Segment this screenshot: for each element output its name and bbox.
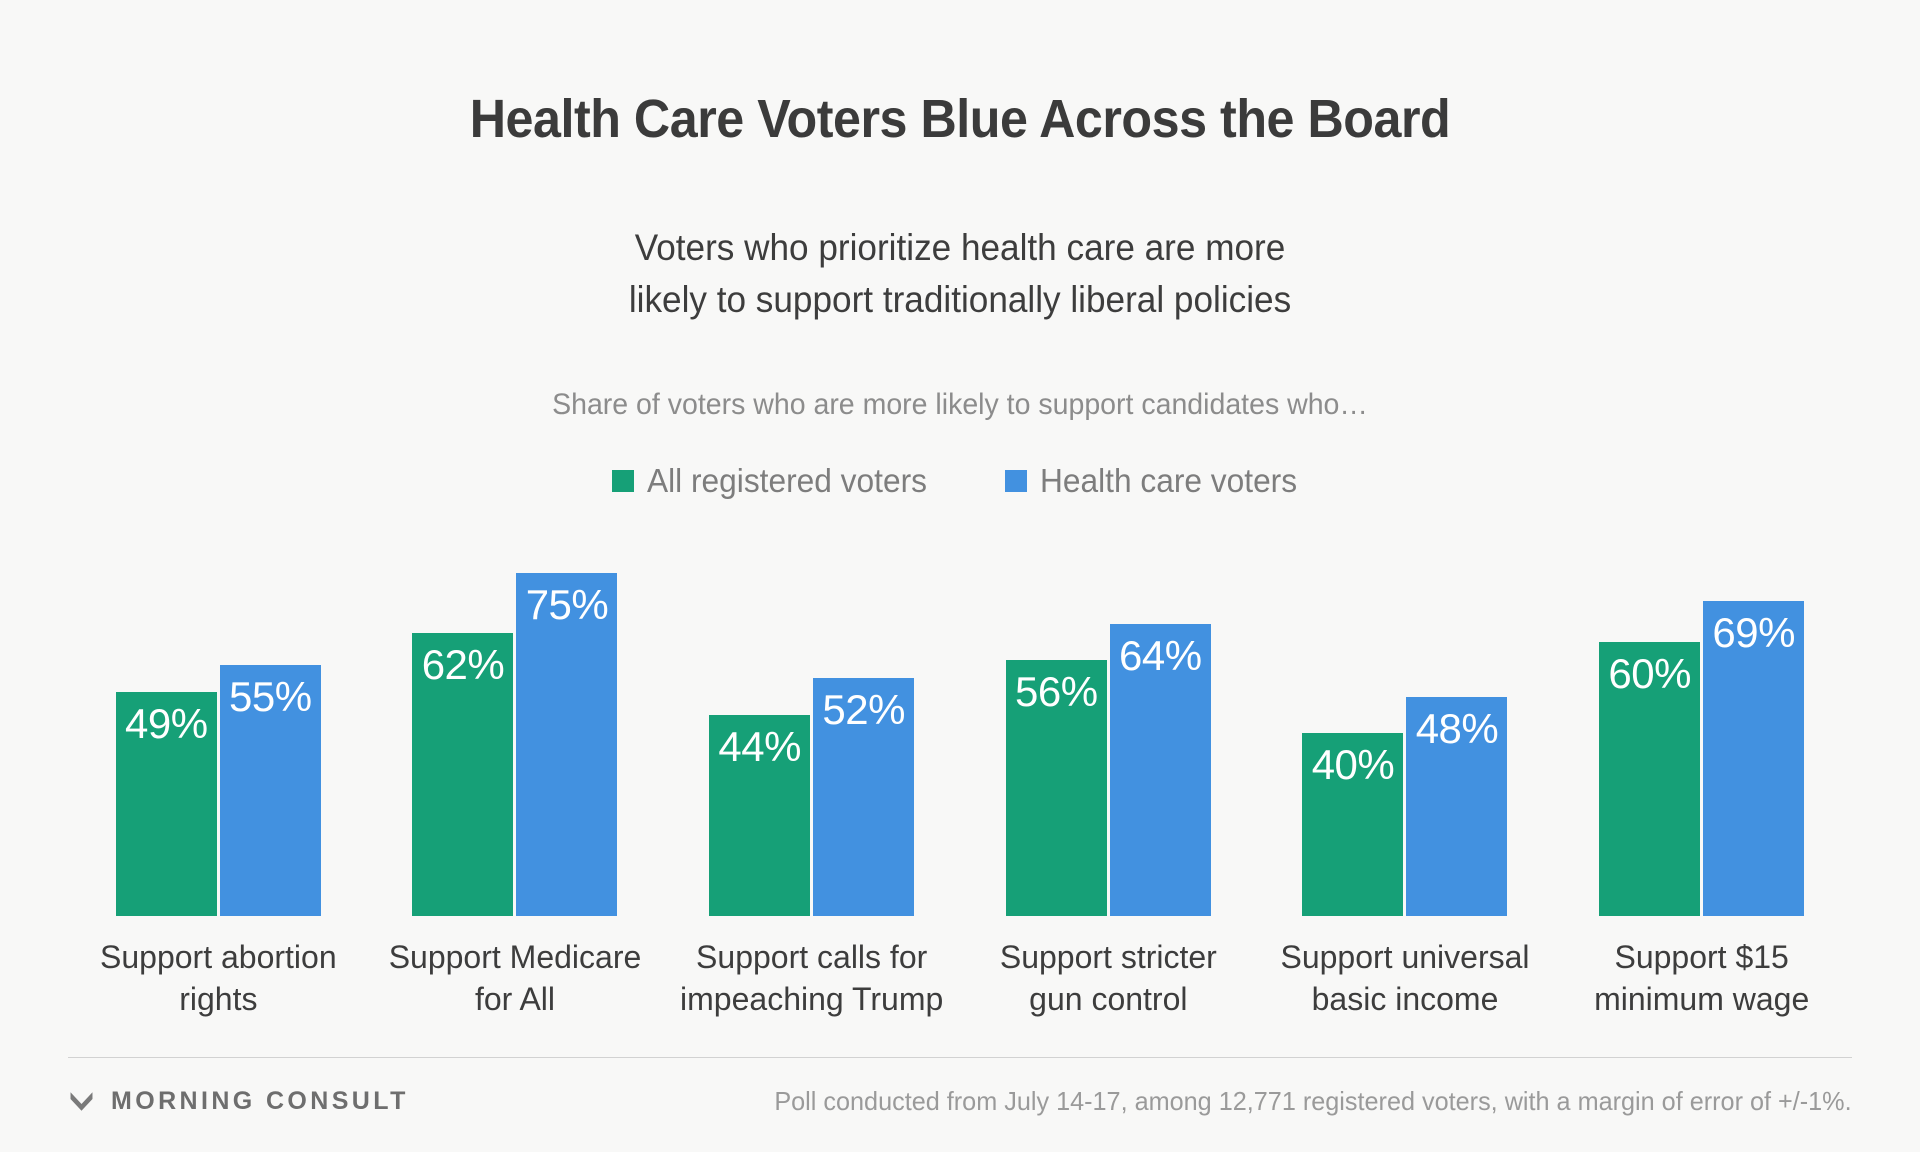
footer-divider xyxy=(68,1057,1852,1058)
legend-item-health-care-voters[interactable]: Health care voters xyxy=(1005,462,1308,500)
bar-value-label: 64% xyxy=(1110,633,1211,679)
bar-all-registered-voters[interactable]: 44% xyxy=(709,715,810,916)
legend-item-all-registered-voters[interactable]: All registered voters xyxy=(612,462,939,500)
bar-value-label: 40% xyxy=(1302,742,1403,788)
legend-swatch-blue xyxy=(1005,470,1027,492)
bar-value-label: 48% xyxy=(1406,706,1507,752)
bar-pair: 40%48% xyxy=(1257,520,1554,916)
chevron-down-double-icon xyxy=(68,1088,95,1115)
category-label-line-1: Support abortion xyxy=(100,939,337,975)
bar-all-registered-voters[interactable]: 62% xyxy=(412,633,513,916)
category-label-line-2: for All xyxy=(367,978,664,1020)
bar-value-label: 55% xyxy=(220,674,321,720)
bar-group: 60%69% xyxy=(1553,520,1850,916)
bar-health-care-voters[interactable]: 64% xyxy=(1110,624,1211,916)
bar-all-registered-voters[interactable]: 60% xyxy=(1599,642,1700,916)
bar-pair: 56%64% xyxy=(960,520,1257,916)
bar-value-label: 60% xyxy=(1599,651,1700,697)
bar-group: 40%48% xyxy=(1257,520,1554,916)
bar-value-label: 75% xyxy=(516,582,617,628)
brand-lockup: MORNING CONSULT xyxy=(68,1087,409,1116)
category-label-line-2: basic income xyxy=(1257,978,1554,1020)
brand-name: MORNING CONSULT xyxy=(111,1087,409,1116)
category-label-line-1: Support calls for xyxy=(696,939,927,975)
bar-value-label: 62% xyxy=(412,642,513,688)
category-label: Support $15minimum wage xyxy=(1553,936,1850,1020)
bar-group: 62%75% xyxy=(367,520,664,916)
category-label: Support universalbasic income xyxy=(1257,936,1554,1020)
category-label-line-2: minimum wage xyxy=(1553,978,1850,1020)
category-label-line-1: Support universal xyxy=(1280,939,1529,975)
bar-group: 56%64% xyxy=(960,520,1257,916)
bar-health-care-voters[interactable]: 52% xyxy=(813,678,914,916)
category-label: Support strictergun control xyxy=(960,936,1257,1020)
category-label-row: Support abortionrightsSupport Medicarefo… xyxy=(70,936,1850,1036)
bar-value-label: 56% xyxy=(1006,669,1107,715)
chart-subtitle-line-1: Voters who prioritize health care are mo… xyxy=(635,227,1286,268)
bar-value-label: 44% xyxy=(709,724,810,770)
bar-pair: 62%75% xyxy=(367,520,664,916)
category-label: Support calls forimpeaching Trump xyxy=(663,936,960,1020)
legend-swatch-green xyxy=(612,470,634,492)
bar-health-care-voters[interactable]: 75% xyxy=(516,573,617,916)
legend-label-all-registered-voters: All registered voters xyxy=(647,462,927,500)
legend-label-health-care-voters: Health care voters xyxy=(1040,462,1297,500)
bar-pair: 60%69% xyxy=(1553,520,1850,916)
bar-plot-area: 49%55%62%75%44%52%56%64%40%48%60%69% xyxy=(70,520,1850,916)
category-label-line-2: rights xyxy=(70,978,367,1020)
category-label-line-2: impeaching Trump xyxy=(663,978,960,1020)
source-note: Poll conducted from July 14-17, among 12… xyxy=(775,1086,1852,1117)
bar-value-label: 69% xyxy=(1703,610,1804,656)
bar-pair: 44%52% xyxy=(663,520,960,916)
chart-subtitle: Voters who prioritize health care are mo… xyxy=(48,222,1872,326)
bar-health-care-voters[interactable]: 48% xyxy=(1406,697,1507,916)
bar-pair: 49%55% xyxy=(70,520,367,916)
bar-all-registered-voters[interactable]: 49% xyxy=(116,692,217,916)
page-title: Health Care Voters Blue Across the Board xyxy=(67,88,1853,150)
bar-group: 44%52% xyxy=(663,520,960,916)
chart-kicker: Share of voters who are more likely to s… xyxy=(48,388,1872,422)
bar-all-registered-voters[interactable]: 56% xyxy=(1006,660,1107,916)
category-label-line-1: Support $15 xyxy=(1614,939,1788,975)
chart-subtitle-line-2: likely to support traditionally liberal … xyxy=(48,274,1872,326)
bar-health-care-voters[interactable]: 55% xyxy=(220,665,321,916)
chart-canvas: Health Care Voters Blue Across the Board… xyxy=(0,0,1920,1152)
category-label-line-2: gun control xyxy=(960,978,1257,1020)
bar-value-label: 49% xyxy=(116,701,217,747)
category-label-line-1: Support stricter xyxy=(1000,939,1217,975)
bar-all-registered-voters[interactable]: 40% xyxy=(1302,733,1403,916)
bar-group: 49%55% xyxy=(70,520,367,916)
bar-value-label: 52% xyxy=(813,687,914,733)
bar-health-care-voters[interactable]: 69% xyxy=(1703,601,1804,916)
category-label: Support Medicarefor All xyxy=(367,936,664,1020)
category-label: Support abortionrights xyxy=(70,936,367,1020)
category-label-line-1: Support Medicare xyxy=(389,939,642,975)
footer: MORNING CONSULT Poll conducted from July… xyxy=(68,1080,1852,1122)
chart-legend: All registered voters Health care voters xyxy=(0,462,1920,500)
